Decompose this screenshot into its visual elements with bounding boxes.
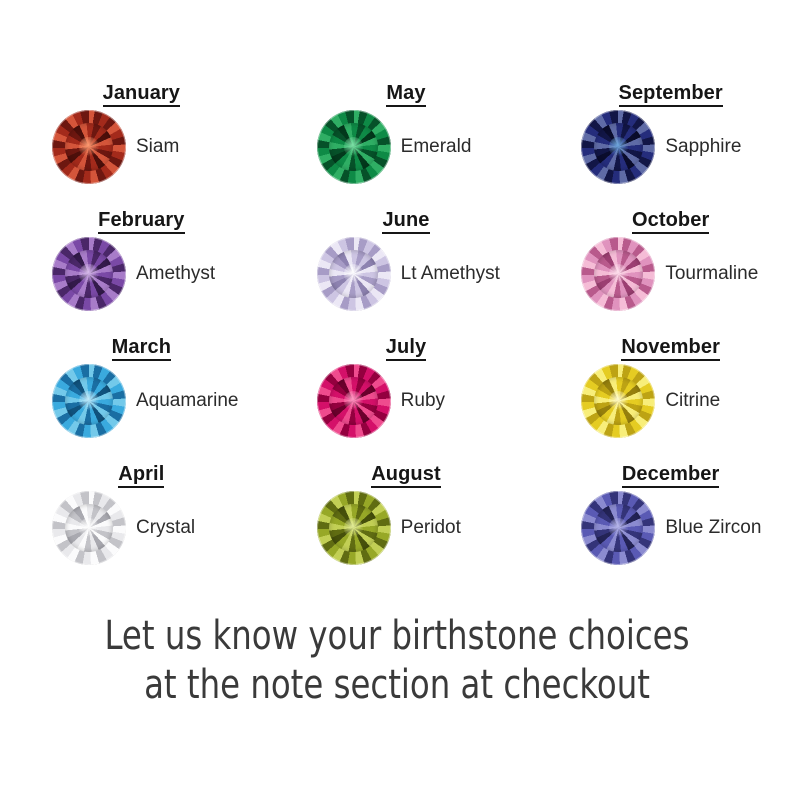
month-heading: November <box>538 336 794 359</box>
stone-name-label: Amethyst <box>136 263 215 285</box>
gemstone-icon <box>581 364 655 438</box>
gem-girdle <box>317 491 391 565</box>
birthstone-row: Emerald <box>265 110 530 184</box>
gem-girdle <box>52 364 126 438</box>
birthstone-cell: DecemberBlue Zircon <box>529 447 794 574</box>
birthstone-row: Sapphire <box>529 110 794 184</box>
month-label: August <box>371 463 440 488</box>
caption-line-1: Let us know your birthstone choices <box>40 612 755 661</box>
gem-girdle <box>317 364 391 438</box>
birthstone-row: Siam <box>0 110 265 184</box>
gem-sparkle <box>79 137 98 156</box>
gemstone-icon <box>581 110 655 184</box>
gemstone-icon <box>52 491 126 565</box>
birthstone-cell: NovemberCitrine <box>529 320 794 447</box>
birthstone-row: Citrine <box>529 364 794 438</box>
gem-sparkle <box>344 518 363 537</box>
gem-sparkle <box>344 137 363 156</box>
stone-name-label: Siam <box>136 136 179 158</box>
gem-girdle <box>581 237 655 311</box>
gem-sparkle <box>79 518 98 537</box>
month-heading: May <box>274 82 539 105</box>
gem-sparkle <box>79 391 98 410</box>
gemstone-icon <box>581 237 655 311</box>
birthstone-cell: MarchAquamarine <box>0 320 265 447</box>
stone-name-label: Tourmaline <box>665 263 758 285</box>
month-heading: August <box>274 463 539 486</box>
stone-name-label: Citrine <box>665 390 720 412</box>
gem-sparkle <box>609 264 628 283</box>
gem-sparkle <box>344 391 363 410</box>
birthstone-cell: AugustPeridot <box>265 447 530 574</box>
birthstone-row: Aquamarine <box>0 364 265 438</box>
gemstone-icon <box>581 491 655 565</box>
birthstone-grid: JanuarySiamMayEmeraldSeptemberSapphireFe… <box>0 66 794 574</box>
birthstone-row: Peridot <box>265 491 530 565</box>
month-heading: July <box>274 336 539 359</box>
month-label: June <box>382 209 429 234</box>
month-heading: January <box>9 82 274 105</box>
birthstone-cell: AprilCrystal <box>0 447 265 574</box>
gemstone-icon <box>52 110 126 184</box>
gem-girdle <box>52 237 126 311</box>
month-heading: April <box>9 463 274 486</box>
caption-line-2: at the note section at checkout <box>40 661 755 710</box>
stone-name-label: Sapphire <box>665 136 741 158</box>
gem-girdle <box>581 110 655 184</box>
birthstone-row: Blue Zircon <box>529 491 794 565</box>
gem-girdle <box>581 364 655 438</box>
month-label: May <box>386 82 425 107</box>
birthstone-cell: OctoberTourmaline <box>529 193 794 320</box>
gemstone-icon <box>317 110 391 184</box>
gem-girdle <box>52 491 126 565</box>
month-heading: October <box>538 209 794 232</box>
month-heading: December <box>538 463 794 486</box>
stone-name-label: Blue Zircon <box>665 517 761 539</box>
birthstone-cell: FebruaryAmethyst <box>0 193 265 320</box>
month-label: April <box>118 463 164 488</box>
checkout-instruction-caption: Let us know your birthstone choices at t… <box>40 612 755 710</box>
gem-girdle <box>317 110 391 184</box>
birthstone-cell: JanuarySiam <box>0 66 265 193</box>
stone-name-label: Ruby <box>401 390 445 412</box>
gemstone-icon <box>317 237 391 311</box>
month-heading: February <box>9 209 274 232</box>
stone-name-label: Aquamarine <box>136 390 238 412</box>
birthstone-chart: JanuarySiamMayEmeraldSeptemberSapphireFe… <box>0 0 794 794</box>
month-label: January <box>103 82 180 107</box>
birthstone-cell: SeptemberSapphire <box>529 66 794 193</box>
stone-name-label: Lt Amethyst <box>401 263 500 285</box>
month-heading: March <box>9 336 274 359</box>
gemstone-icon <box>317 364 391 438</box>
birthstone-row: Lt Amethyst <box>265 237 530 311</box>
birthstone-row: Crystal <box>0 491 265 565</box>
birthstone-cell: MayEmerald <box>265 66 530 193</box>
birthstone-cell: JuneLt Amethyst <box>265 193 530 320</box>
gem-sparkle <box>609 391 628 410</box>
gem-sparkle <box>344 264 363 283</box>
month-label: February <box>98 209 184 234</box>
birthstone-cell: JulyRuby <box>265 320 530 447</box>
stone-name-label: Peridot <box>401 517 461 539</box>
gemstone-icon <box>52 364 126 438</box>
gem-girdle <box>317 237 391 311</box>
month-label: July <box>386 336 426 361</box>
month-label: October <box>632 209 709 234</box>
gemstone-icon <box>317 491 391 565</box>
stone-name-label: Emerald <box>401 136 472 158</box>
gem-girdle <box>52 110 126 184</box>
birthstone-row: Ruby <box>265 364 530 438</box>
month-heading: June <box>274 209 539 232</box>
birthstone-row: Tourmaline <box>529 237 794 311</box>
gem-girdle <box>581 491 655 565</box>
gem-sparkle <box>609 137 628 156</box>
month-heading: September <box>538 82 794 105</box>
gem-sparkle <box>609 518 628 537</box>
stone-name-label: Crystal <box>136 517 195 539</box>
month-label: March <box>112 336 171 361</box>
birthstone-row: Amethyst <box>0 237 265 311</box>
month-label: September <box>619 82 723 107</box>
gemstone-icon <box>52 237 126 311</box>
month-label: November <box>621 336 720 361</box>
gem-sparkle <box>79 264 98 283</box>
month-label: December <box>622 463 720 488</box>
